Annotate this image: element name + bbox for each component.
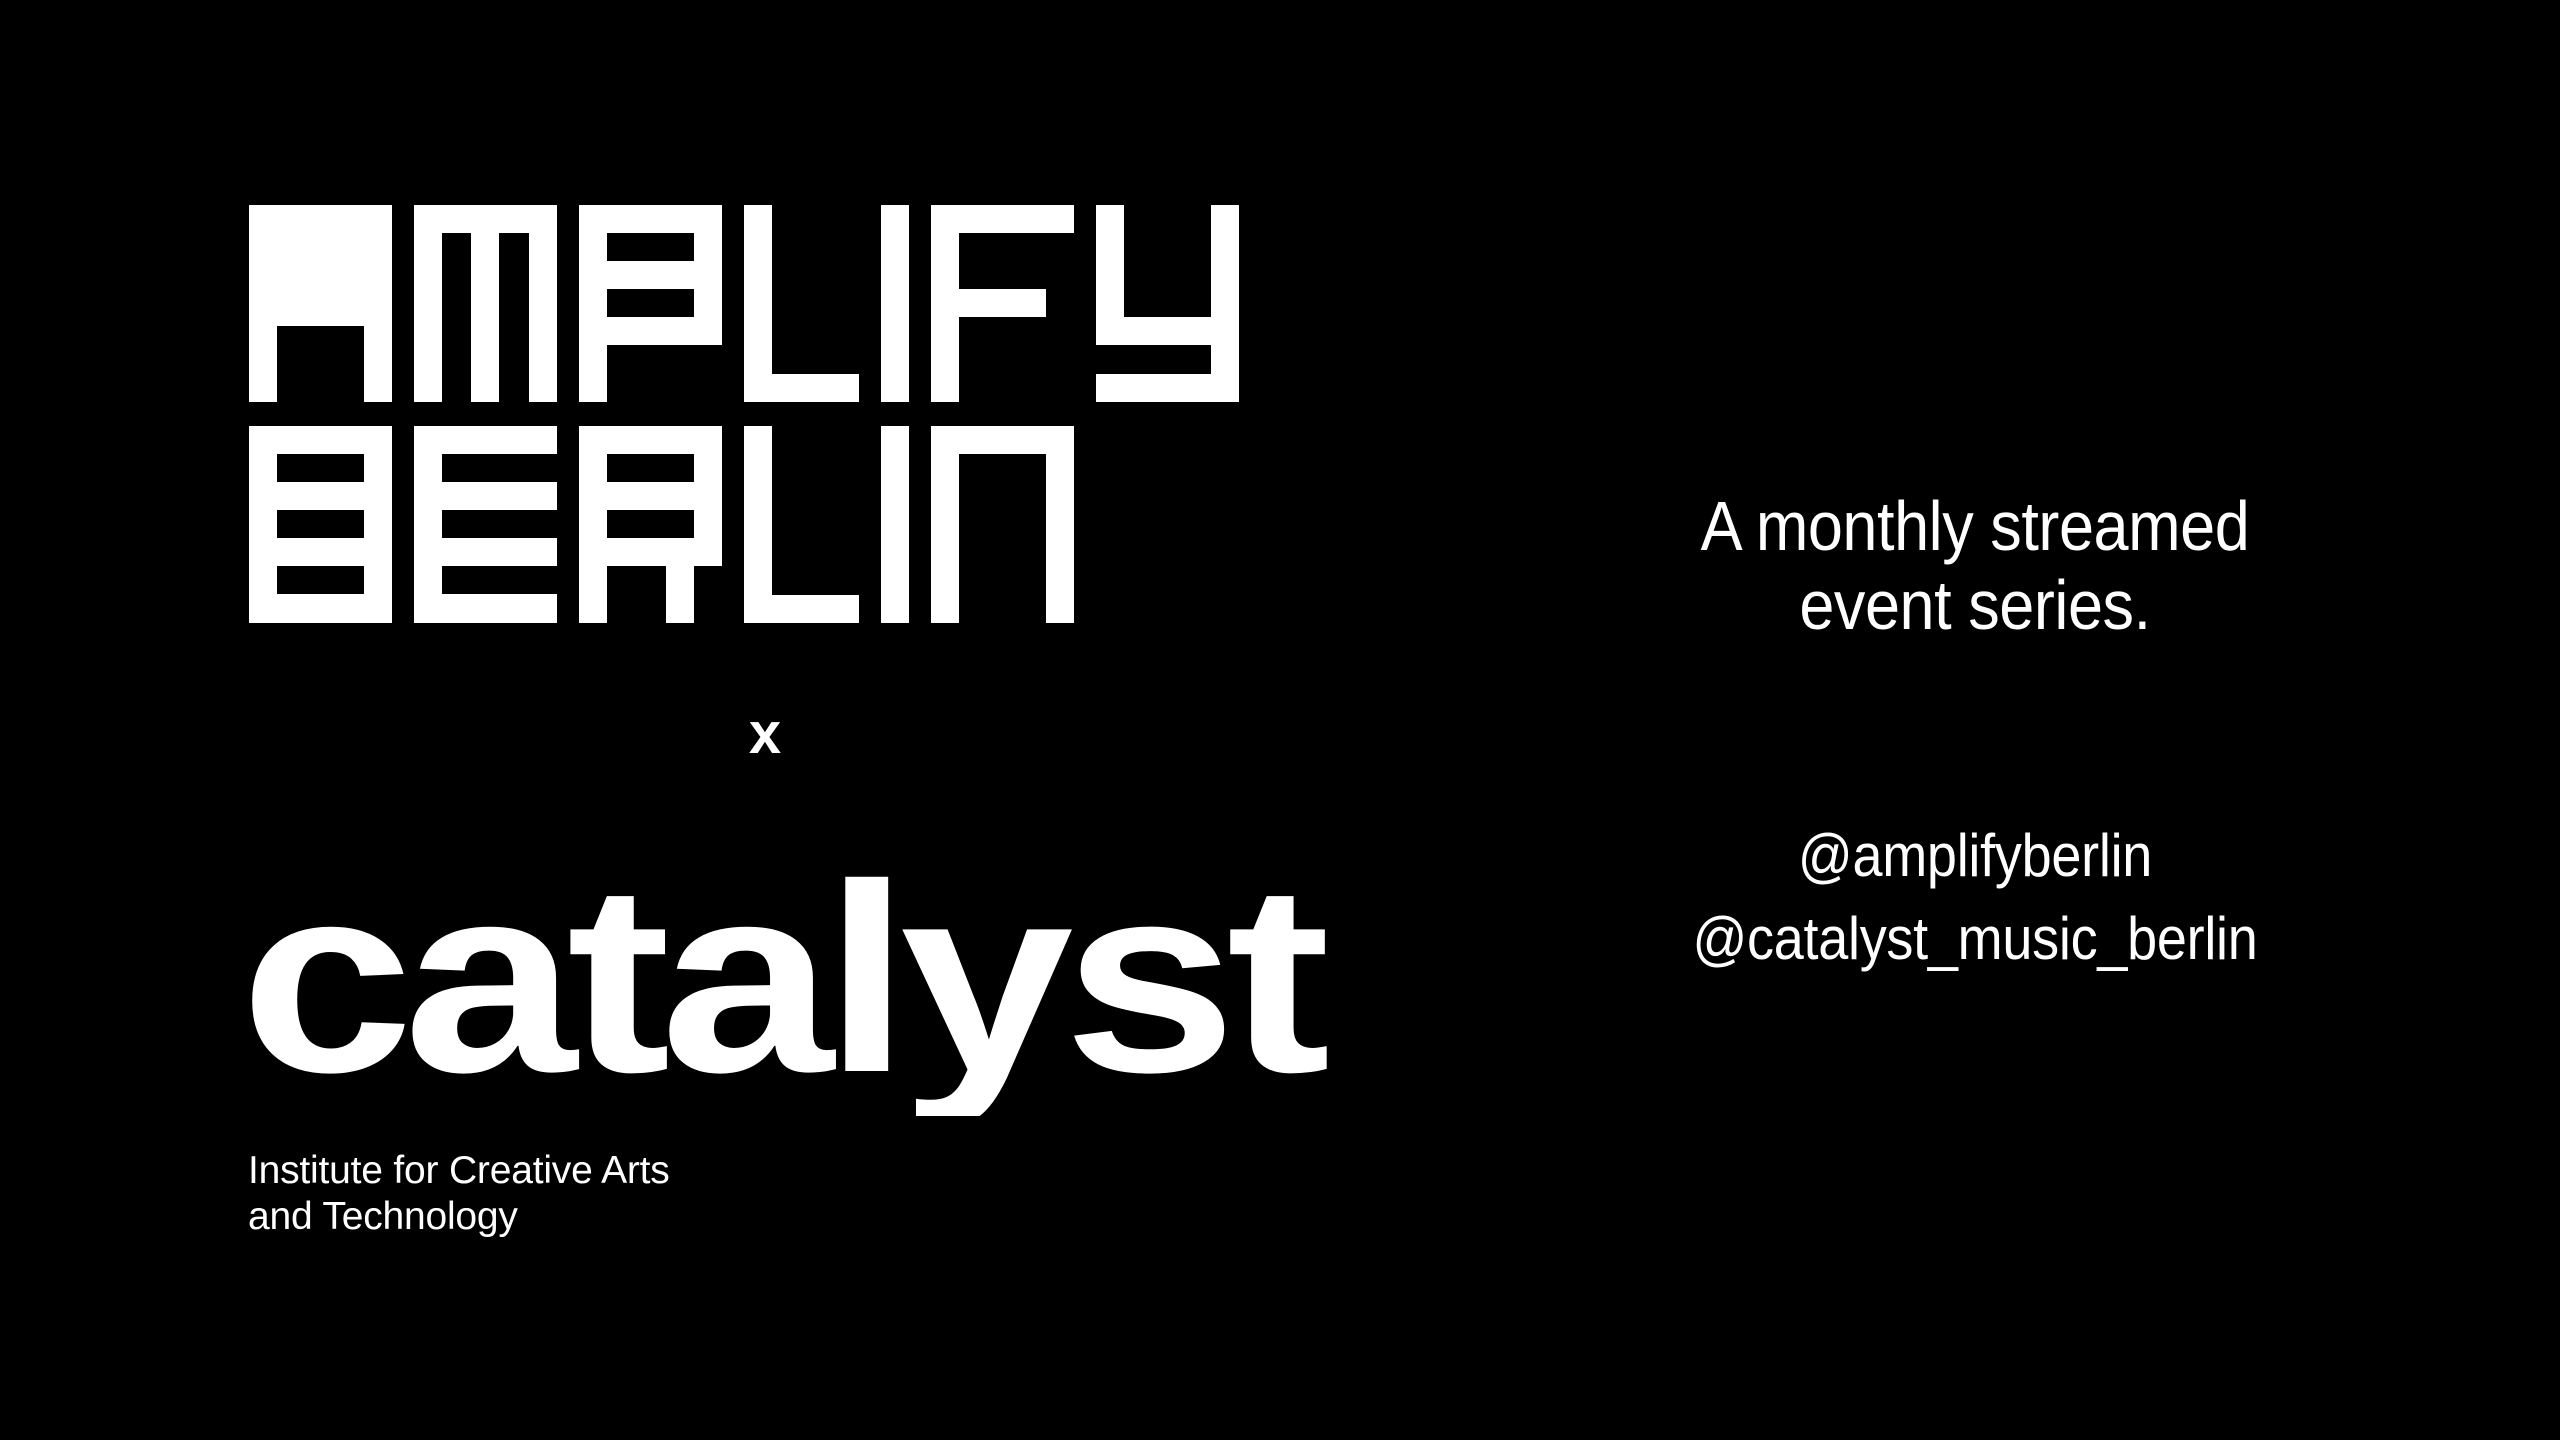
- left-column: x catalyst Institute for Creative Arts a…: [0, 0, 1400, 1440]
- amplify-berlin-logo: [249, 205, 1281, 623]
- logo-letter-F: [931, 205, 1074, 402]
- catalyst-tagline: Institute for Creative Arts and Technolo…: [248, 1148, 670, 1239]
- logo-letter-B: [249, 426, 392, 623]
- logo-letter-E: [414, 426, 557, 623]
- logo-row-amplify: [249, 205, 1239, 402]
- poster-canvas: x catalyst Institute for Creative Arts a…: [0, 0, 2560, 1440]
- catalyst-wordmark-svg: catalyst: [240, 876, 1340, 1116]
- logo-row-berlin: [249, 426, 1074, 623]
- logo-letter-I2: [881, 426, 909, 623]
- logo-letter-M: [414, 205, 557, 402]
- logo-letter-I: [881, 205, 909, 402]
- logo-letter-L: [744, 205, 859, 402]
- logo-letter-P: [579, 205, 722, 402]
- right-column: A monthly streamed event series. @amplif…: [1390, 0, 2560, 1440]
- collaboration-separator: x: [249, 705, 1281, 763]
- logo-letter-L2: [744, 426, 859, 623]
- social-handle-catalyst[interactable]: @catalyst_music_berlin: [1449, 898, 2502, 981]
- catalyst-wordmark-text: catalyst: [240, 876, 1329, 1116]
- social-handles: @amplifyberlin @catalyst_music_berlin: [1449, 815, 2502, 981]
- logo-letter-A: [249, 205, 392, 402]
- catalyst-wordmark: catalyst: [240, 876, 1340, 1116]
- social-handle-amplify[interactable]: @amplifyberlin: [1449, 815, 2502, 898]
- logo-letter-Y: [1096, 205, 1239, 402]
- logo-letter-N: [931, 426, 1074, 623]
- logo-letter-R: [579, 426, 722, 623]
- series-description: A monthly streamed event series.: [1449, 487, 2502, 645]
- amplify-berlin-logo-svg: [249, 205, 1281, 623]
